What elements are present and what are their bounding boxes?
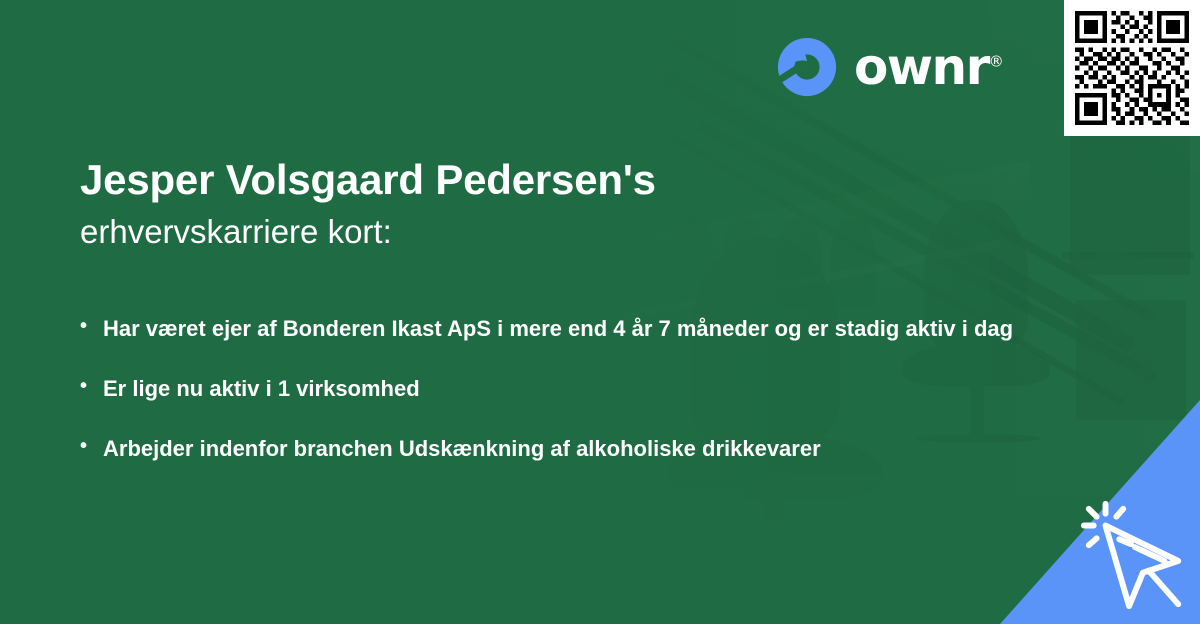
list-item: Har været ejer af Bonderen Ikast ApS i m… bbox=[80, 310, 1080, 348]
career-facts-list: Har været ejer af Bonderen Ikast ApS i m… bbox=[80, 310, 1080, 489]
wordmark-text: ownr bbox=[854, 38, 989, 96]
business-career-card: ownr® bbox=[0, 0, 1200, 624]
blue-corner-accent bbox=[1000, 400, 1200, 624]
list-item: Er lige nu aktiv i 1 virksomhed bbox=[80, 370, 1080, 408]
list-item: Arbejder indenfor branchen Udskænkning a… bbox=[80, 430, 1080, 468]
registered-trademark-symbol: ® bbox=[989, 52, 1004, 70]
qr-code-image bbox=[1075, 11, 1189, 125]
click-cursor-icon bbox=[1076, 496, 1194, 614]
page-title: Jesper Volsgaard Pedersen's erhvervskarr… bbox=[80, 155, 1040, 253]
ownr-circle-logo-icon bbox=[776, 36, 838, 98]
ownr-logo[interactable]: ownr® bbox=[776, 36, 1004, 98]
title-line-2: erhvervskarriere kort: bbox=[80, 211, 1040, 254]
title-line-1: Jesper Volsgaard Pedersen's bbox=[80, 155, 1040, 205]
qr-code[interactable] bbox=[1064, 0, 1200, 136]
ownr-wordmark: ownr® bbox=[854, 42, 1004, 92]
